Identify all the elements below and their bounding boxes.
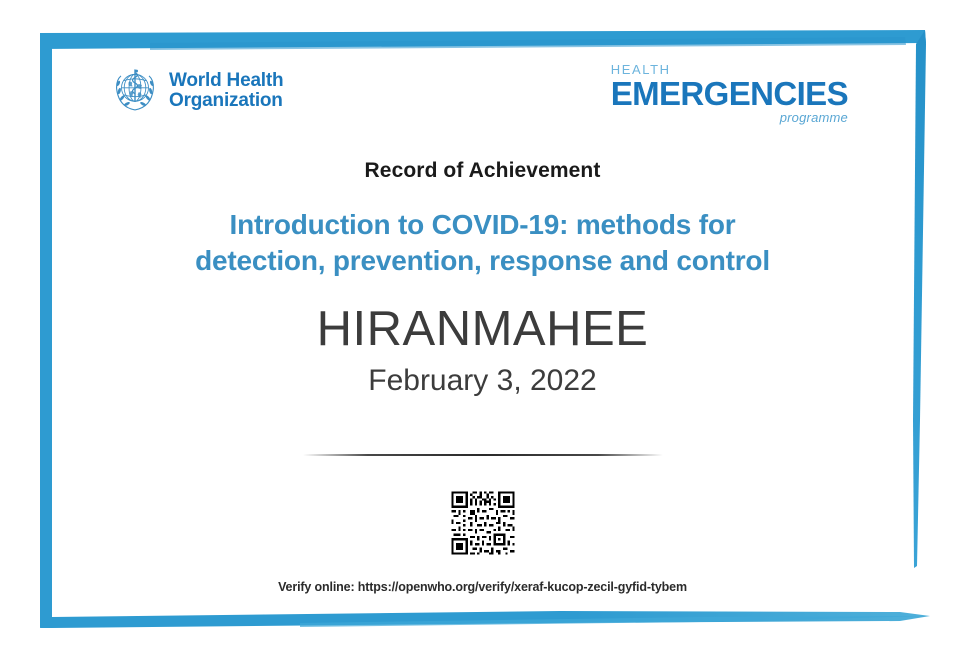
record-of-achievement-label: Record of Achievement <box>60 159 905 183</box>
verification-qr-code[interactable] <box>446 486 520 560</box>
divider-wrap <box>60 454 905 456</box>
who-wordmark-line1: World Health <box>169 71 283 91</box>
qr-wrap <box>60 486 905 560</box>
logo-row: World Health Organization HEALTH EMERGEN… <box>60 45 905 117</box>
border-right-stroke <box>913 30 926 568</box>
issue-date: February 3, 2022 <box>60 363 905 399</box>
emergencies-logo-bottom: programme <box>611 111 848 124</box>
who-logo: World Health Organization <box>108 64 283 118</box>
certificate-content: World Health Organization HEALTH EMERGEN… <box>60 45 905 620</box>
participant-name: HIRANMAHEE <box>60 301 905 357</box>
emergencies-logo-main: EMERGENCIES <box>611 77 848 110</box>
border-left-stroke <box>40 33 52 628</box>
certificate-page: World Health Organization HEALTH EMERGEN… <box>0 0 965 666</box>
horizontal-divider <box>303 454 663 456</box>
who-wordmark-line2: Organization <box>169 91 283 111</box>
course-title: Introduction to COVID-19: methods for de… <box>163 207 803 279</box>
who-wordmark: World Health Organization <box>169 71 283 111</box>
who-emblem-icon <box>108 64 162 118</box>
health-emergencies-logo: HEALTH EMERGENCIES programme <box>611 63 848 124</box>
verify-online-text[interactable]: Verify online: https://openwho.org/verif… <box>60 580 905 594</box>
